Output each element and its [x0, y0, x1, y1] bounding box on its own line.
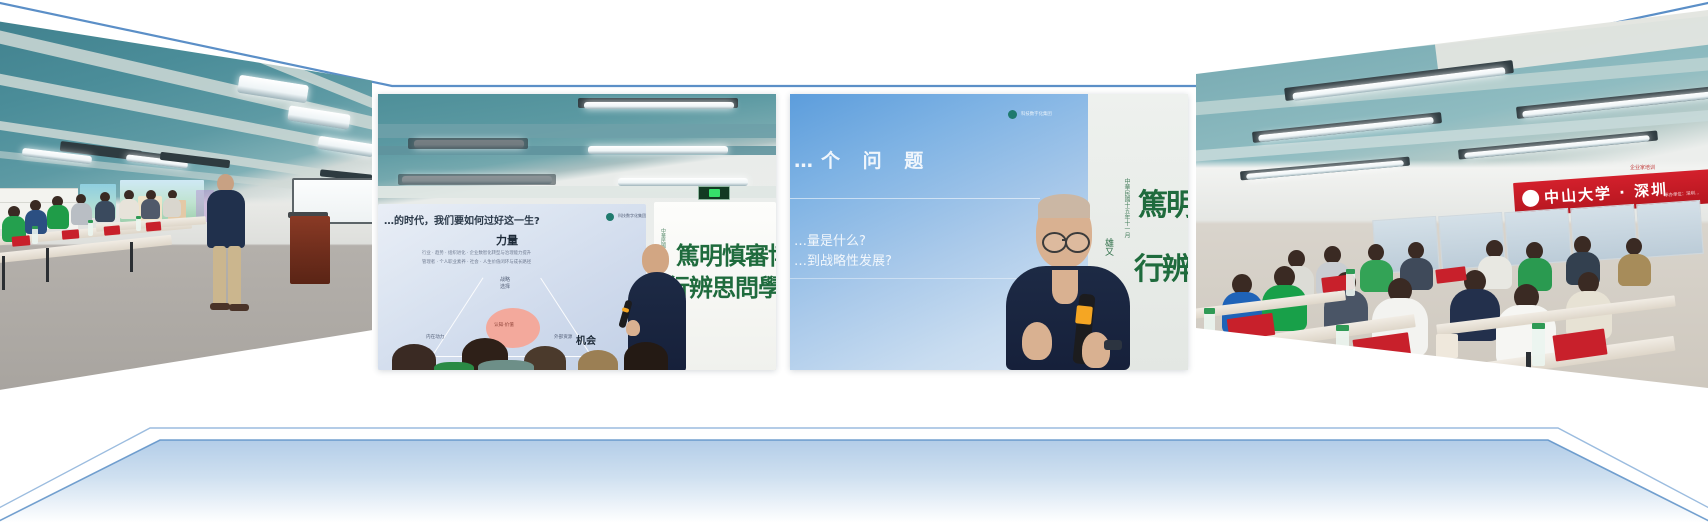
- calligraphy-main: 篤明慎審博: [676, 236, 776, 271]
- university-seal-icon: [1522, 189, 1540, 207]
- slide-line1: …量是什么?: [794, 230, 866, 249]
- slide-body-line1: 行业 · 趋势 · 组织进化 · 企业数智化转型与治理能力提升: [422, 250, 531, 256]
- slide-logo-text: 科技数字化集团: [618, 213, 646, 219]
- audience-shoulder: [434, 362, 474, 370]
- photo-banner: …的时代，我们要如何过好这一生? 科技数字化集团 力量 行业 · 趋势 · 组织…: [0, 0, 1708, 523]
- presenter-hand-right: [1082, 332, 1110, 368]
- pedestal-fill: [0, 440, 1708, 523]
- name-card: [1435, 266, 1466, 284]
- exit-sign: [698, 186, 730, 200]
- audience-head: [624, 342, 668, 370]
- slide-line2: …到战略性发展?: [794, 250, 892, 269]
- photo-classroom-wide[interactable]: [0, 0, 372, 393]
- slide-logo: [606, 213, 614, 221]
- presenter-hand-left: [1022, 322, 1052, 360]
- calligraphy-main: 篤明: [1138, 180, 1188, 224]
- photo-presenter-closeup[interactable]: 科技数字化集团 …个 问 题 …量是什么? …到战略性发展? 篤明 行辨 中華民…: [790, 94, 1188, 370]
- audience-head: [392, 344, 436, 370]
- name-card: [1352, 332, 1411, 366]
- photo-lecture-slide-content: …的时代，我们要如何过好这一生? 科技数字化集团 力量 行业 · 趋势 · 组织…: [378, 94, 776, 370]
- calligraphy-seal: 雄又: [1102, 238, 1115, 256]
- eyeglasses-right: [1065, 232, 1090, 253]
- slide-section-bottom: 机会: [576, 332, 596, 347]
- slide-title: …个 问 题: [794, 146, 931, 173]
- lecturer-head: [642, 244, 669, 275]
- photo-classroom-wide-content: [0, 0, 372, 393]
- photo-audience-rows[interactable]: 中山大学 · 深圳 承办单位：深圳… 企业家培训: [1196, 0, 1708, 400]
- microphone-band: [1075, 305, 1093, 325]
- banner-subtitle: 承办单位：深圳…: [1664, 190, 1699, 198]
- photo-audience-rows-content: 中山大学 · 深圳 承办单位：深圳… 企业家培训: [1196, 0, 1708, 400]
- photo-presenter-closeup-content: 科技数字化集团 …个 问 题 …量是什么? …到战略性发展? 篤明 行辨 中華民…: [790, 94, 1188, 370]
- accent-line-bottom-inner: [0, 428, 1708, 510]
- slide-center-label: 认知·价值: [494, 322, 514, 328]
- slide-sub-apex: 战略选择: [500, 276, 510, 290]
- photo-lecture-slide[interactable]: …的时代，我们要如何过好这一生? 科技数字化集团 力量 行业 · 趋势 · 组织…: [378, 94, 776, 370]
- accent-line-bottom-outer: [0, 440, 1708, 523]
- slide-body-line2: 管理者 · 个人职业素养 · 社会 · 人生价值闭环与成长路径: [422, 259, 531, 265]
- slide-logo: [1008, 110, 1017, 119]
- slide-section-top: 力量: [496, 232, 518, 248]
- frame-bottom-accent: [0, 390, 1708, 523]
- slide-headline: …的时代，我们要如何过好这一生?: [384, 212, 540, 227]
- eyeglasses-left: [1042, 232, 1067, 253]
- calligraphy-second: 行辨: [1134, 244, 1188, 288]
- slide-sub-left: 内在动力: [426, 334, 444, 340]
- slide-logo-text: 科技数字化集团: [1021, 111, 1052, 117]
- slide-sub-right: 外部资源: [554, 334, 572, 340]
- banner-supertitle: 企业家培训: [1630, 164, 1655, 171]
- lecturer-hand: [626, 320, 640, 336]
- audience-shoulder: [478, 360, 534, 370]
- calligraphy-side: 中華民國十五年十一月: [1122, 178, 1131, 238]
